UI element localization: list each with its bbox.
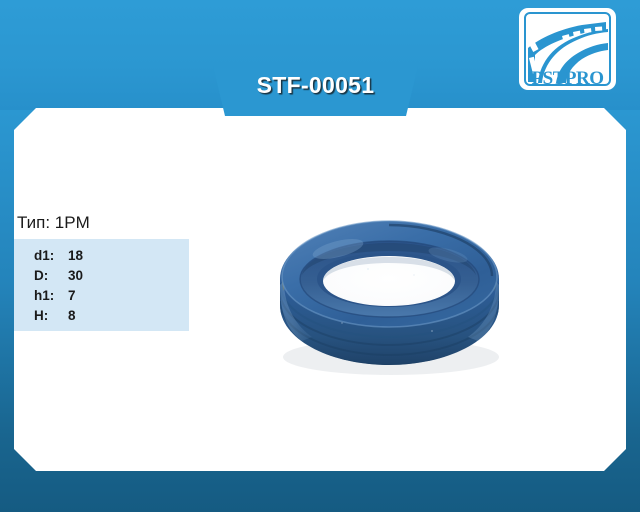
brand-logo[interactable]: PSTPRO	[519, 8, 616, 90]
spec-key: h1:	[34, 288, 68, 303]
spec-type-label: Тип: 1PM	[17, 213, 90, 233]
spec-key: H:	[34, 308, 68, 323]
table-row: H: 8	[14, 308, 189, 328]
product-card-page: STF-00051	[0, 0, 640, 512]
page-title: STF-00051	[213, 72, 418, 99]
spec-value: 8	[68, 308, 76, 323]
spec-dimensions-table: d1: 18 D: 30 h1: 7 H: 8	[14, 239, 189, 331]
spec-value: 18	[68, 248, 83, 263]
spec-key: D:	[34, 268, 68, 283]
spec-key: d1:	[34, 248, 68, 263]
table-row: h1: 7	[14, 288, 189, 308]
spec-value: 7	[68, 288, 76, 303]
product-image	[272, 205, 507, 385]
logo-wordmark: PSTPRO	[519, 69, 616, 89]
table-row: d1: 18	[14, 248, 189, 268]
table-row: D: 30	[14, 268, 189, 288]
spec-value: 30	[68, 268, 83, 283]
oil-seal-ring-graphic	[272, 205, 507, 385]
